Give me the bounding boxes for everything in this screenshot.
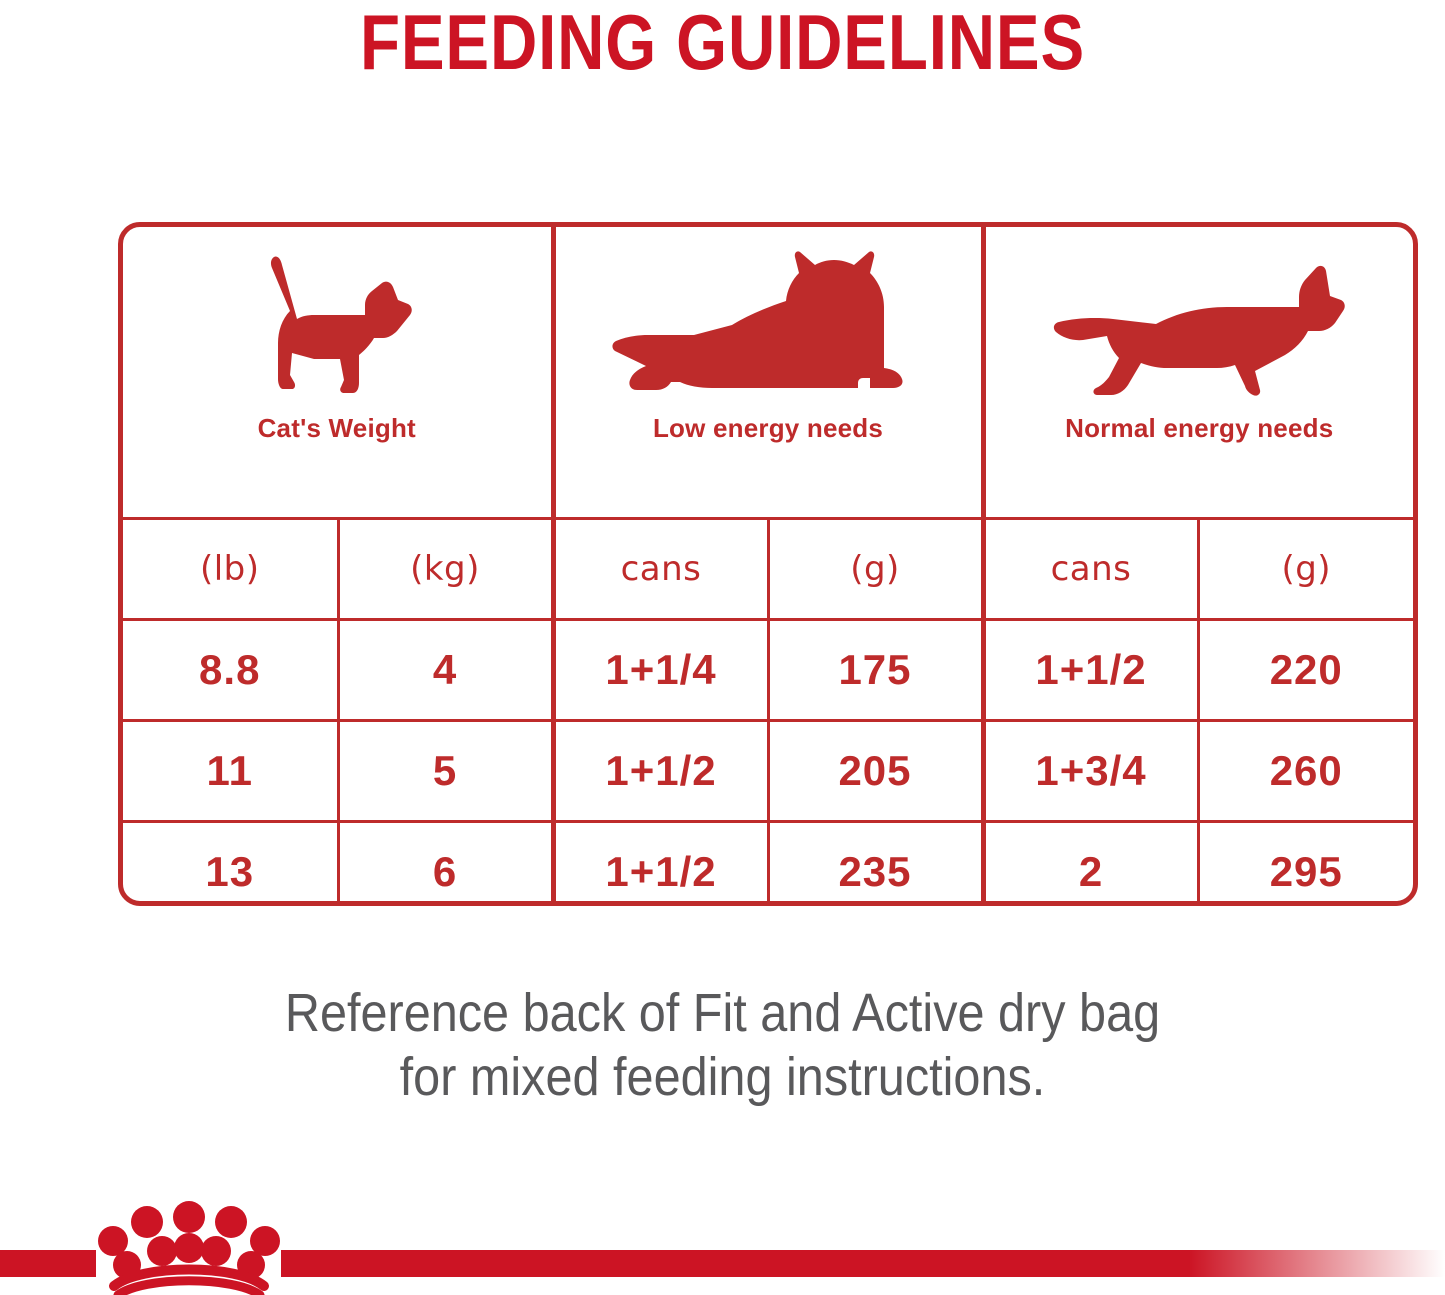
lying-cat-icon: [608, 249, 928, 399]
cell-weight-lb: 11: [123, 721, 338, 822]
cell-weight-lb: 13: [123, 822, 338, 907]
footer-note: Reference back of Fit and Active dry bag…: [72, 982, 1373, 1109]
table-row: 8.8 4 1+1/4 175 1+1/2 220: [123, 620, 1413, 721]
cell-low-g: 235: [768, 822, 983, 907]
table-unit-header-row: (lb) (kg) cans (g) cans (g): [123, 519, 1413, 620]
unit-header-low-g: (g): [768, 519, 983, 620]
cell-normal-cans: 2: [983, 822, 1198, 907]
cell-weight-kg: 5: [338, 721, 553, 822]
page-title: FEEDING GUIDELINES: [116, 2, 1330, 84]
table-row: 13 6 1+1/2 235 2 295: [123, 822, 1413, 907]
group-label: Normal energy needs: [1065, 413, 1333, 444]
cell-normal-g: 260: [1198, 721, 1413, 822]
cell-normal-cans: 1+1/2: [983, 620, 1198, 721]
cell-weight-lb: 8.8: [123, 620, 338, 721]
royal-canin-crown-logo: [96, 1200, 282, 1295]
group-label: Cat's Weight: [258, 413, 416, 444]
cell-normal-g: 295: [1198, 822, 1413, 907]
footer-note-line2: for mixed feeding instructions.: [72, 1046, 1373, 1110]
brand-bar-right-segment: [281, 1250, 1445, 1277]
cell-weight-kg: 4: [338, 620, 553, 721]
cell-low-g: 205: [768, 721, 983, 822]
brand-bar-left-segment: [0, 1250, 96, 1277]
group-label: Low energy needs: [653, 413, 883, 444]
cell-low-cans: 1+1/2: [553, 721, 768, 822]
standing-cat-icon: [252, 249, 422, 399]
footer-note-line1: Reference back of Fit and Active dry bag: [72, 982, 1373, 1046]
group-header-normal-energy: Normal energy needs: [983, 227, 1413, 519]
table-group-header-row: Cat's Weight Low energy needs: [123, 227, 1413, 519]
cell-low-g: 175: [768, 620, 983, 721]
unit-header-low-cans: cans: [553, 519, 768, 620]
cell-weight-kg: 6: [338, 822, 553, 907]
table-row: 11 5 1+1/2 205 1+3/4 260: [123, 721, 1413, 822]
unit-header-normal-g: (g): [1198, 519, 1413, 620]
cell-normal-cans: 1+3/4: [983, 721, 1198, 822]
walking-cat-icon: [1049, 249, 1349, 399]
brand-footer-bar: [0, 1236, 1445, 1295]
cell-normal-g: 220: [1198, 620, 1413, 721]
feeding-guidelines-table: Cat's Weight Low energy needs: [118, 222, 1418, 906]
unit-header-kg: (kg): [338, 519, 553, 620]
group-header-cats-weight: Cat's Weight: [123, 227, 553, 519]
cell-low-cans: 1+1/2: [553, 822, 768, 907]
group-header-low-energy: Low energy needs: [553, 227, 983, 519]
unit-header-normal-cans: cans: [983, 519, 1198, 620]
cell-low-cans: 1+1/4: [553, 620, 768, 721]
unit-header-lb: (lb): [123, 519, 338, 620]
